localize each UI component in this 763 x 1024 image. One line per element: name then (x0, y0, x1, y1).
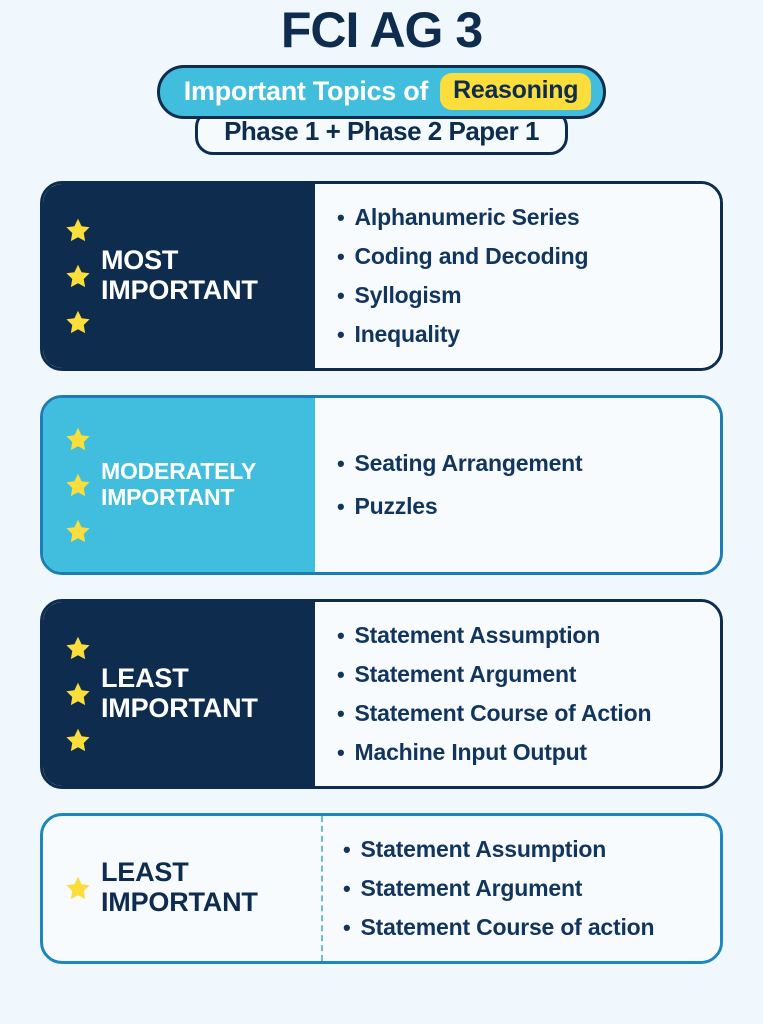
bullet-icon: • (337, 285, 345, 307)
card-level-label: MOST IMPORTANT (101, 246, 258, 305)
topic-list-item: •Statement Course of Action (337, 694, 710, 733)
card-level-label: MODERATELY IMPORTANT (101, 459, 256, 510)
bullet-icon: • (343, 839, 351, 861)
card-level-label: LEAST IMPORTANT (101, 664, 258, 723)
topic-list-item: •Statement Assumption (343, 830, 710, 869)
star-icon (65, 426, 91, 452)
topic-list-item: •Statement Argument (343, 869, 710, 908)
bullet-icon: • (337, 324, 345, 346)
bullet-icon: • (337, 742, 345, 764)
bullet-icon: • (337, 453, 345, 475)
topic-label: Statement Course of action (361, 916, 655, 939)
star-icon (65, 472, 91, 498)
topic-list-item: •Syllogism (337, 276, 710, 315)
topic-list-item: •Puzzles (337, 485, 710, 528)
card-level-panel: MOST IMPORTANT (43, 184, 315, 368)
card-level-label: LEAST IMPORTANT (101, 858, 258, 917)
star-icon (65, 635, 91, 661)
card-level-panel: LEAST IMPORTANT (43, 602, 315, 786)
topic-label: Inequality (355, 323, 460, 346)
important-topics-pill: Important Topics of Reasoning (157, 65, 606, 119)
topic-label: Statement Course of Action (355, 702, 652, 725)
bullet-icon: • (337, 703, 345, 725)
topic-label: Puzzles (355, 495, 438, 518)
topic-label: Statement Argument (355, 663, 577, 686)
topic-label: Machine Input Output (355, 741, 587, 764)
star-icon (65, 309, 91, 335)
topic-label: Syllogism (355, 284, 462, 307)
bullet-icon: • (337, 496, 345, 518)
topic-label: Statement Assumption (355, 624, 601, 647)
star-icon (65, 518, 91, 544)
star-rating (65, 217, 91, 335)
topic-list-item: •Alphanumeric Series (337, 198, 710, 237)
star-icon (65, 681, 91, 707)
star-icon (65, 263, 91, 289)
subject-badge: Reasoning (440, 73, 591, 111)
page-header: FCI AG 3 Important Topics of Reasoning P… (0, 0, 763, 155)
topic-label: Statement Argument (361, 877, 583, 900)
bullet-icon: • (343, 917, 351, 939)
card-topics-panel: •Statement Assumption•Statement Argument… (321, 816, 720, 961)
card-level-panel: MODERATELY IMPORTANT (43, 398, 315, 572)
card-level-panel: LEAST IMPORTANT (43, 816, 321, 961)
topic-list-item: •Statement Assumption (337, 616, 710, 655)
topic-list-item: •Statement Course of action (343, 908, 710, 947)
topic-list-item: •Machine Input Output (337, 733, 710, 772)
star-icon (65, 875, 91, 901)
topic-label: Alphanumeric Series (355, 206, 580, 229)
star-rating (65, 635, 91, 753)
topic-list-item: •Statement Argument (337, 655, 710, 694)
priority-card-least-important: LEAST IMPORTANT•Statement Assumption•Sta… (40, 599, 723, 789)
card-topics-panel: •Statement Assumption•Statement Argument… (315, 602, 720, 786)
phase-label: Phase 1 + Phase 2 Paper 1 (224, 116, 539, 147)
topic-label: Coding and Decoding (355, 245, 589, 268)
topic-list-item: •Inequality (337, 315, 710, 354)
bullet-icon: • (343, 878, 351, 900)
topic-list-item: •Coding and Decoding (337, 237, 710, 276)
card-topics-panel: •Seating Arrangement•Puzzles (315, 398, 720, 572)
priority-card-moderately-important: MODERATELY IMPORTANT•Seating Arrangement… (40, 395, 723, 575)
important-topics-label: Important Topics of (184, 76, 428, 107)
topic-label: Statement Assumption (361, 838, 607, 861)
priority-cards-list: MOST IMPORTANT•Alphanumeric Series•Codin… (0, 181, 763, 964)
star-icon (65, 727, 91, 753)
bullet-icon: • (337, 664, 345, 686)
star-rating (65, 426, 91, 544)
card-topics-panel: •Alphanumeric Series•Coding and Decoding… (315, 184, 720, 368)
bullet-icon: • (337, 246, 345, 268)
bullet-icon: • (337, 207, 345, 229)
topic-list-item: •Seating Arrangement (337, 442, 710, 485)
bullet-icon: • (337, 625, 345, 647)
priority-card-least-important-alt: LEAST IMPORTANT•Statement Assumption•Sta… (40, 813, 723, 964)
star-rating (65, 875, 91, 901)
title-banner-group: Important Topics of Reasoning Phase 1 + … (0, 65, 763, 155)
topic-label: Seating Arrangement (355, 452, 583, 475)
page-title: FCI AG 3 (281, 4, 482, 57)
star-icon (65, 217, 91, 243)
priority-card-most-important: MOST IMPORTANT•Alphanumeric Series•Codin… (40, 181, 723, 371)
